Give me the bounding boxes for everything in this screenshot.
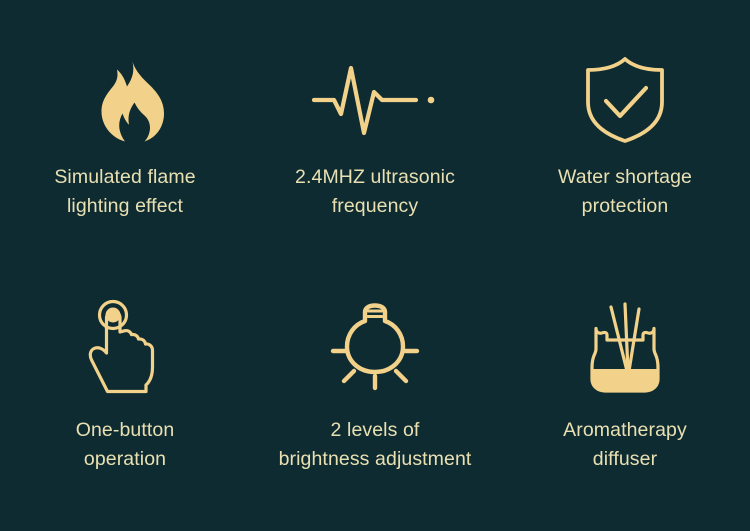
light-bulb-icon <box>325 304 425 394</box>
feature-card-one-button-operation: One-button operation <box>0 266 250 531</box>
feature-grid: Simulated flame lighting effect 2.4MHZ u… <box>0 0 750 531</box>
feature-caption: Aromatherapy diffuser <box>563 416 687 474</box>
feature-caption: 2 levels of brightness adjustment <box>279 416 472 474</box>
reed-diffuser-icon <box>575 304 675 394</box>
feature-caption: One-button operation <box>76 416 175 474</box>
feature-caption: Water shortage protection <box>558 163 692 221</box>
waveform-icon <box>325 55 425 145</box>
feature-caption: Simulated flame lighting effect <box>54 163 195 221</box>
feature-card-simulated-flame: Simulated flame lighting effect <box>0 0 250 266</box>
feature-card-ultrasonic-frequency: 2.4MHZ ultrasonic frequency <box>250 0 500 266</box>
hand-tap-icon <box>75 304 175 394</box>
product-feature-banner: Simulated flame lighting effect 2.4MHZ u… <box>0 0 750 531</box>
feature-card-brightness-adjustment: 2 levels of brightness adjustment <box>250 266 500 531</box>
flame-icon <box>75 55 175 145</box>
feature-caption: 2.4MHZ ultrasonic frequency <box>295 163 455 221</box>
feature-card-aromatherapy-diffuser: Aromatherapy diffuser <box>500 266 750 531</box>
feature-card-water-shortage-protection: Water shortage protection <box>500 0 750 266</box>
shield-check-icon <box>575 55 675 145</box>
